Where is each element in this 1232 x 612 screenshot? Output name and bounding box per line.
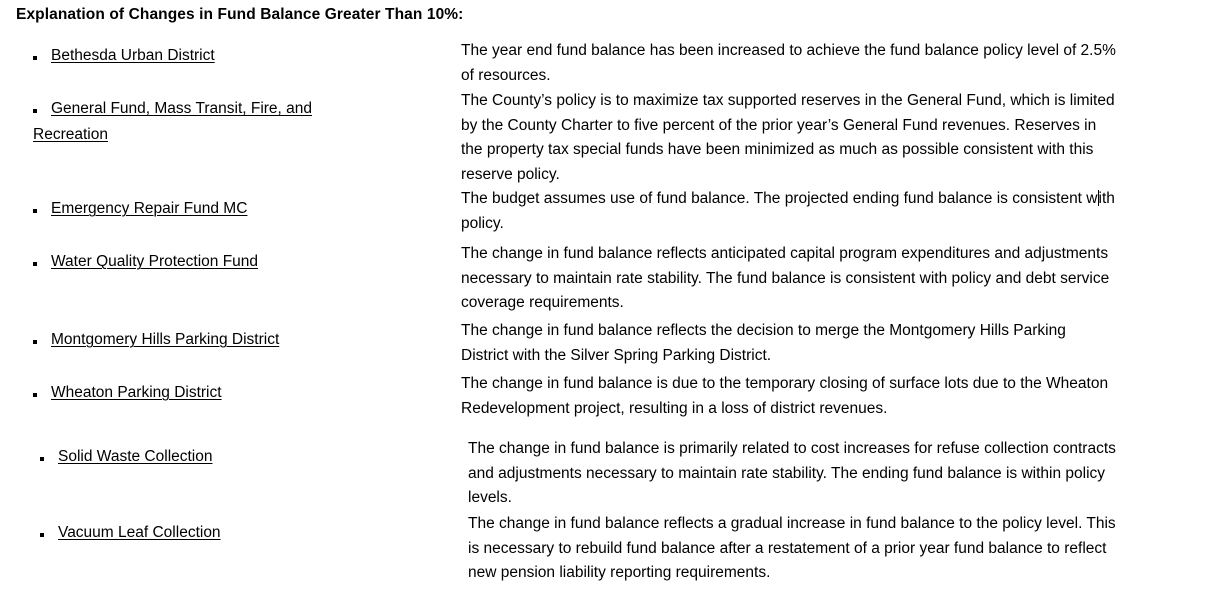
fund-name-label[interactable]: Solid Waste Collection — [58, 446, 440, 467]
fund-name-label[interactable]: Montgomery Hills Parking District — [51, 329, 433, 350]
fund-name-label[interactable]: Vacuum Leaf Collection — [58, 522, 440, 543]
bullet-icon — [40, 533, 44, 537]
fund-list-item[interactable]: General Fund, Mass Transit, Fire, and — [33, 98, 433, 119]
fund-explanation-text: The change in fund balance is primarily … — [468, 437, 1123, 511]
fund-name-label[interactable]: General Fund, Mass Transit, Fire, and — [51, 98, 433, 119]
fund-explanation-text: The budget assumes use of fund balance. … — [461, 187, 1116, 236]
fund-name-label[interactable]: Bethesda Urban District — [51, 45, 433, 66]
fund-explanation-text: The year end fund balance has been incre… — [461, 39, 1116, 88]
fund-explanation-text: The change in fund balance reflects a gr… — [468, 512, 1123, 586]
fund-name-label[interactable]: Water Quality Protection Fund — [51, 251, 433, 272]
explanation-text-before-caret: The budget assumes use of fund balance. … — [461, 190, 1098, 207]
fund-list-item[interactable]: Montgomery Hills Parking District — [33, 329, 433, 350]
fund-explanation-text: The County’s policy is to maximize tax s… — [461, 89, 1116, 187]
fund-list-item[interactable]: Vacuum Leaf Collection — [40, 522, 440, 543]
fund-name-label-line2[interactable]: Recreation — [33, 124, 433, 145]
bullet-icon — [33, 262, 37, 266]
document-page: Explanation of Changes in Fund Balance G… — [0, 0, 1232, 612]
fund-explanation-text: The change in fund balance reflects the … — [461, 319, 1116, 368]
bullet-icon — [33, 209, 37, 213]
bullet-icon — [33, 109, 37, 113]
fund-list-item[interactable]: Water Quality Protection Fund — [33, 251, 433, 272]
fund-list-item[interactable]: Emergency Repair Fund MC — [33, 198, 433, 219]
fund-name-label[interactable]: Emergency Repair Fund MC — [51, 198, 433, 219]
page-title: Explanation of Changes in Fund Balance G… — [16, 6, 463, 24]
bullet-icon — [33, 56, 37, 60]
bullet-icon — [33, 340, 37, 344]
fund-explanation-text: The change in fund balance is due to the… — [461, 372, 1116, 421]
fund-list-item[interactable]: Bethesda Urban District — [33, 45, 433, 66]
bullet-icon — [33, 393, 37, 397]
fund-name-label[interactable]: Wheaton Parking District — [51, 382, 433, 403]
fund-list-item[interactable]: Wheaton Parking District — [33, 382, 433, 403]
fund-list-item-continuation[interactable]: Recreation — [33, 124, 433, 145]
fund-list-item[interactable]: Solid Waste Collection — [40, 446, 440, 467]
fund-explanation-text: The change in fund balance reflects anti… — [461, 242, 1116, 316]
bullet-icon — [40, 457, 44, 461]
